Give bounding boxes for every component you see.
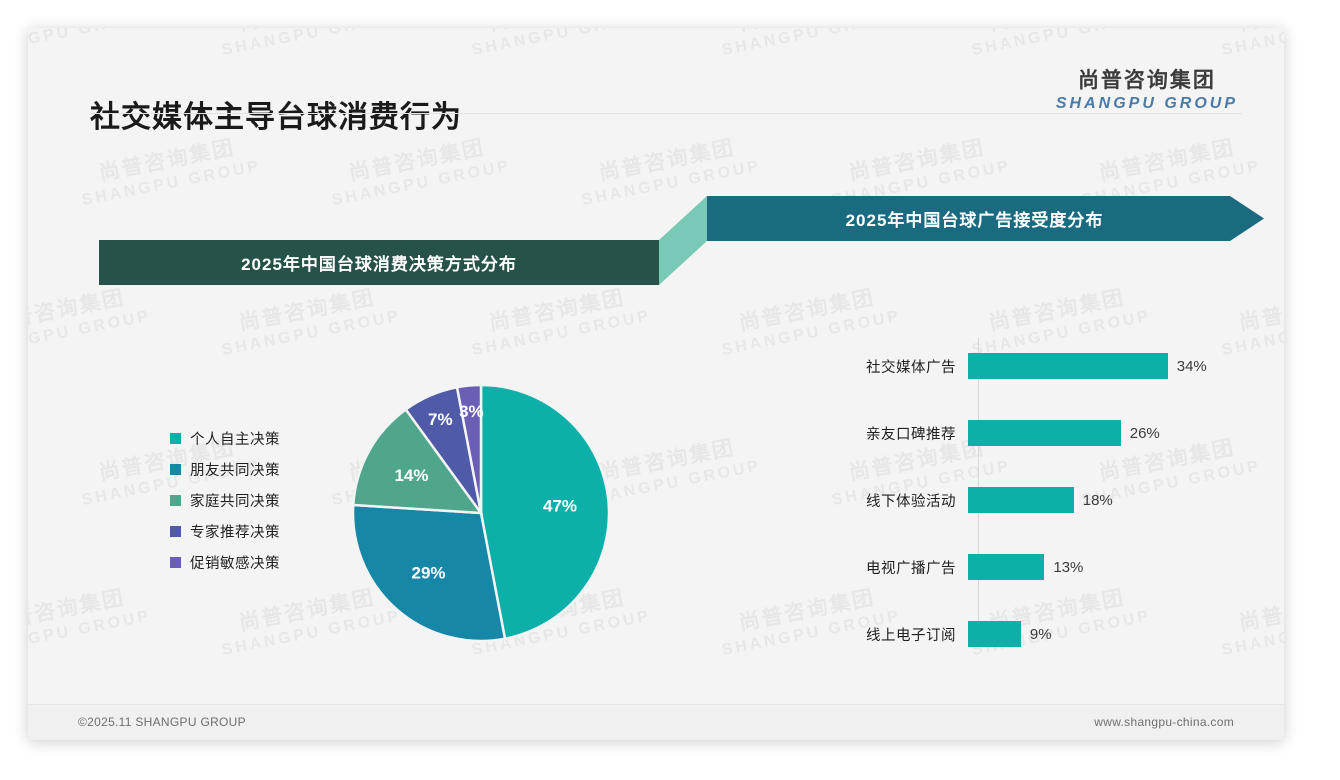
bar-value-label: 13% <box>1053 559 1083 576</box>
pie-chart-graphic: 47%29%14%7%3% <box>336 368 626 658</box>
bar-category-label: 社交媒体广告 <box>828 356 968 377</box>
pie-slice-label: 47% <box>543 497 577 516</box>
bar-value-label: 26% <box>1130 425 1160 442</box>
pie-legend-item[interactable]: 个人自主决策 <box>170 428 280 449</box>
footer-copyright: ©2025.11 SHANGPU GROUP <box>78 715 246 729</box>
legend-item-label: 家庭共同决策 <box>190 490 280 511</box>
legend-item-label: 个人自主决策 <box>190 428 280 449</box>
page-title: 社交媒体主导台球消费行为 <box>90 92 462 136</box>
legend-color-swatch <box>170 433 181 444</box>
banner-bar-chart-title: 2025年中国台球广告接受度分布 <box>707 196 1264 241</box>
banner-connector-shape <box>659 196 707 285</box>
bar-category-label: 电视广播广告 <box>828 557 968 578</box>
pie-legend-item[interactable]: 促销敏感决策 <box>170 552 280 573</box>
pie-legend-item[interactable]: 家庭共同决策 <box>170 490 280 511</box>
bar-fill[interactable] <box>968 420 1121 446</box>
bar-value-label: 9% <box>1030 626 1052 643</box>
pie-legend-item[interactable]: 专家推荐决策 <box>170 521 280 542</box>
bar-fill[interactable] <box>968 554 1044 580</box>
banner-right-label: 2025年中国台球广告接受度分布 <box>846 206 1104 231</box>
bar-fill[interactable] <box>968 621 1021 647</box>
brand-logo: 尚普咨询集团 SHANGPU GROUP <box>1056 64 1238 113</box>
bar-value-label: 18% <box>1083 492 1113 509</box>
bar-category-label: 线上电子订阅 <box>828 624 968 645</box>
bar-chart-row[interactable]: 线上电子订阅9% <box>828 621 1248 647</box>
bar-fill[interactable] <box>968 353 1168 379</box>
pie-chart-block: 个人自主决策朋友共同决策家庭共同决策专家推荐决策促销敏感决策 47%29%14%… <box>148 328 668 658</box>
logo-chinese-text: 尚普咨询集团 <box>1056 64 1238 94</box>
legend-color-swatch <box>170 495 181 506</box>
slide-canvas: 尚普咨询集团SHANGPU GROUP尚普咨询集团SHANGPU GROUP尚普… <box>28 28 1284 740</box>
legend-item-label: 促销敏感决策 <box>190 552 280 573</box>
bar-category-label: 线下体验活动 <box>828 490 968 511</box>
pie-slice-label: 3% <box>459 402 484 421</box>
bar-chart-block: 社交媒体广告34%亲友口碑推荐26%线下体验活动18%电视广播广告13%线上电子… <box>828 308 1248 658</box>
bar-fill[interactable] <box>968 487 1074 513</box>
logo-english-text: SHANGPU GROUP <box>1056 95 1238 113</box>
pie-slice-label: 14% <box>394 466 428 485</box>
legend-color-swatch <box>170 526 181 537</box>
slide-header: 社交媒体主导台球消费行为 尚普咨询集团 SHANGPU GROUP <box>28 28 1284 120</box>
bar-category-label: 亲友口碑推荐 <box>828 423 968 444</box>
bar-chart-row[interactable]: 电视广播广告13% <box>828 554 1248 580</box>
pie-legend-item[interactable]: 朋友共同决策 <box>170 459 280 480</box>
slide-footer: ©2025.11 SHANGPU GROUP www.shangpu-china… <box>28 704 1284 740</box>
header-divider <box>90 113 1242 114</box>
pie-slice-label: 7% <box>428 410 453 429</box>
banner-left-label: 2025年中国台球消费决策方式分布 <box>241 250 517 275</box>
banner-pie-chart-title: 2025年中国台球消费决策方式分布 <box>99 240 659 285</box>
bar-value-label: 34% <box>1177 358 1207 375</box>
legend-item-label: 朋友共同决策 <box>190 459 280 480</box>
pie-slice-label: 29% <box>412 564 446 583</box>
bar-chart-row[interactable]: 社交媒体广告34% <box>828 353 1248 379</box>
footer-website: www.shangpu-china.com <box>1094 715 1234 729</box>
bar-chart-row[interactable]: 亲友口碑推荐26% <box>828 420 1248 446</box>
legend-item-label: 专家推荐决策 <box>190 521 280 542</box>
legend-color-swatch <box>170 464 181 475</box>
pie-legend: 个人自主决策朋友共同决策家庭共同决策专家推荐决策促销敏感决策 <box>170 428 280 583</box>
bar-chart-row[interactable]: 线下体验活动18% <box>828 487 1248 513</box>
legend-color-swatch <box>170 557 181 568</box>
